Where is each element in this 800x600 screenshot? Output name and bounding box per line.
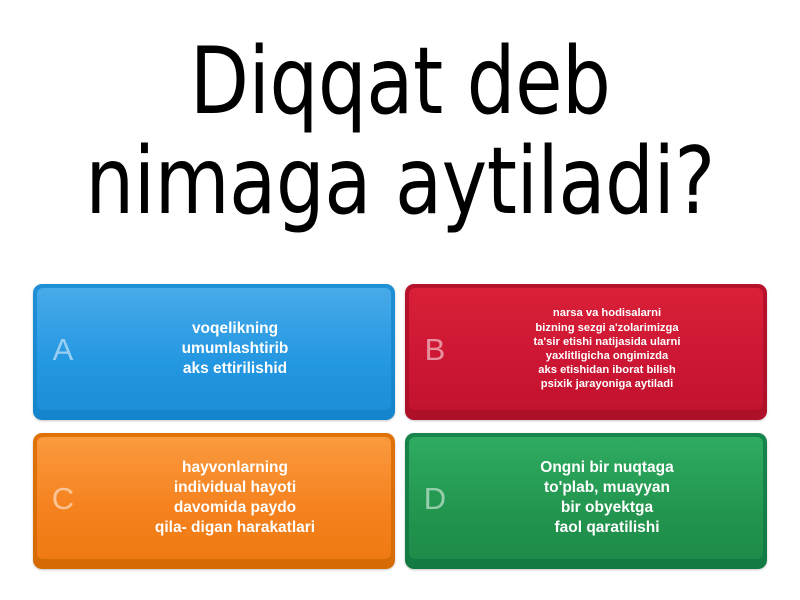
answer-option-d[interactable]: D Ongni bir nuqtaga to'plab, muayyan bir… <box>405 433 767 569</box>
answer-option-d-letter: D <box>409 483 461 514</box>
answer-option-b-letter: B <box>409 334 461 365</box>
answer-option-c[interactable]: C hayvonlarning individual hayoti davomi… <box>33 433 395 569</box>
answer-option-d-face: D Ongni bir nuqtaga to'plab, muayyan bir… <box>409 437 763 559</box>
answer-option-b-text: narsa va hodisalarni bizning sezgi a'zol… <box>461 306 763 391</box>
question-area: Diqqat deb nimaga aytiladi? <box>0 0 800 258</box>
answer-option-c-text: hayvonlarning individual hayoti davomida… <box>89 458 391 537</box>
question-title: Diqqat deb nimaga aytiladi? <box>85 31 714 232</box>
answer-option-d-text: Ongni bir nuqtaga to'plab, muayyan bir o… <box>461 458 763 537</box>
answer-option-b[interactable]: B narsa va hodisalarni bizning sezgi a'z… <box>405 284 767 420</box>
answer-option-a-text: voqelikning umumlashtirib aks ettirilish… <box>89 319 391 378</box>
answer-option-a[interactable]: A voqelikning umumlashtirib aks ettirili… <box>33 284 395 420</box>
answer-option-a-letter: A <box>37 334 89 365</box>
answer-option-a-face: A voqelikning umumlashtirib aks ettirili… <box>37 288 391 410</box>
answers-grid: A voqelikning umumlashtirib aks ettirili… <box>0 258 800 600</box>
answer-option-c-face: C hayvonlarning individual hayoti davomi… <box>37 437 391 559</box>
answer-option-c-letter: C <box>37 483 89 514</box>
answer-option-b-face: B narsa va hodisalarni bizning sezgi a'z… <box>409 288 763 410</box>
